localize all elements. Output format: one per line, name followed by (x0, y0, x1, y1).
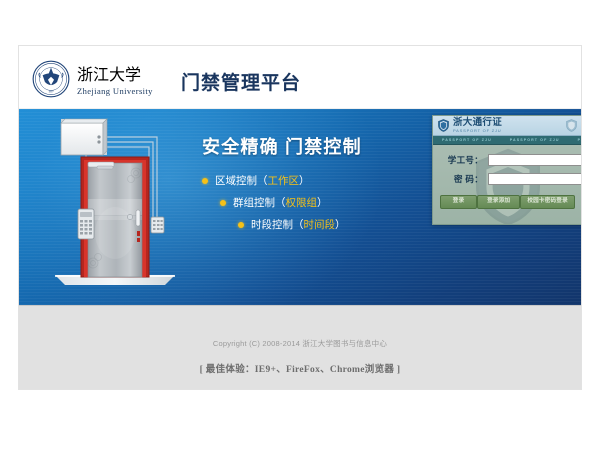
feature-tail-text: ） (317, 195, 328, 210)
feature-main-text: 群组控制（ (233, 195, 286, 210)
feature-tail-text: ） (299, 173, 310, 188)
feature-main-text: 时段控制（ (251, 217, 304, 232)
feature-tail-text: ） (335, 217, 346, 232)
footer-copyright: Copyright (C) 2008-2014 浙江大学图书与信息中心 (19, 306, 581, 349)
banner-copy: 安全精确 门禁控制 区域控制（ 工作区 ） 群组控制（ 权限组 ） 时段控制（ (202, 133, 422, 239)
bullet-dot-icon (202, 178, 208, 184)
bullet-dot-icon (238, 222, 244, 228)
feature-accent-text: 权限组 (286, 195, 318, 210)
access-control-door-illustration (41, 113, 191, 299)
login-add-button[interactable]: 登录添加 (477, 195, 520, 209)
password-input[interactable] (488, 173, 581, 185)
username-input[interactable] (488, 154, 581, 166)
feature-main-text: 区域控制（ (215, 173, 268, 188)
svg-text:1897: 1897 (48, 91, 54, 94)
site-header: 1897 浙江大学 Zhejiang University 门禁管理平台 (19, 46, 581, 109)
banner-headline: 安全精确 门禁控制 (202, 133, 422, 159)
passport-title-en: PASSPORT OF ZJU (453, 129, 502, 133)
passport-title-cn: 浙大通行证 (453, 118, 502, 128)
feature-item-group: 群组控制（ 权限组 ） (202, 195, 422, 210)
login-button[interactable]: 登录 (440, 195, 477, 209)
wordmark-en: Zhejiang University (77, 86, 153, 96)
login-form: 学工号： 密 码： (433, 145, 581, 185)
feature-item-area: 区域控制（ 工作区 ） (202, 173, 422, 188)
feature-accent-text: 时间段 (304, 217, 336, 232)
login-panel-header: 浙大通行证 PASSPORT OF ZJU (433, 116, 581, 136)
hero-banner: 安全精确 门禁控制 区域控制（ 工作区 ） 群组控制（ 权限组 ） 时段控制（ (19, 109, 581, 305)
brand-block[interactable]: 1897 浙江大学 Zhejiang University (32, 60, 153, 98)
passport-watermark-strip: PASSPORT OF ZJU PASSPORT OF ZJU PASSPORT… (433, 136, 581, 145)
strip-text: PASSPORT OF ZJU (569, 138, 581, 142)
campus-card-login-button[interactable]: 校园卡密码登录 (520, 195, 575, 209)
bullet-dot-icon (220, 200, 226, 206)
feature-item-time: 时段控制（ 时间段 ） (202, 217, 422, 232)
form-row-password: 密 码： (441, 173, 574, 185)
strip-text: PASSPORT OF ZJU (501, 138, 569, 142)
password-label: 密 码： (441, 173, 483, 185)
feature-accent-text: 工作区 (268, 173, 300, 188)
zju-seal-icon: 1897 (32, 60, 70, 98)
wordmark-cn: 浙江大学 (77, 61, 153, 85)
login-body: 学工号： 密 码： 登录 登录添加 校园卡密码登录 (433, 145, 581, 225)
site-footer: Copyright (C) 2008-2014 浙江大学图书与信息中心 [ 最佳… (19, 305, 581, 390)
username-label: 学工号： (441, 154, 483, 166)
page-title: 门禁管理平台 (181, 68, 301, 95)
shield-icon (438, 119, 449, 132)
login-panel: 浙大通行证 PASSPORT OF ZJU PASSPORT OF ZJU PA… (432, 115, 581, 225)
passport-titles: 浙大通行证 PASSPORT OF ZJU (453, 118, 502, 133)
footer-browser-note: [ 最佳体验：IE9+、FireFox、Chrome浏览器 ] (19, 361, 581, 375)
login-button-group: 登录 登录添加 校园卡密码登录 (433, 192, 581, 209)
strip-text: PASSPORT OF ZJU (433, 138, 501, 142)
feature-list: 区域控制（ 工作区 ） 群组控制（ 权限组 ） 时段控制（ 时间段 ） (202, 173, 422, 232)
shield-icon (566, 119, 577, 132)
form-row-username: 学工号： (441, 154, 574, 166)
wordmark: 浙江大学 Zhejiang University (77, 61, 153, 96)
page-frame: 1897 浙江大学 Zhejiang University 门禁管理平台 (18, 45, 582, 390)
